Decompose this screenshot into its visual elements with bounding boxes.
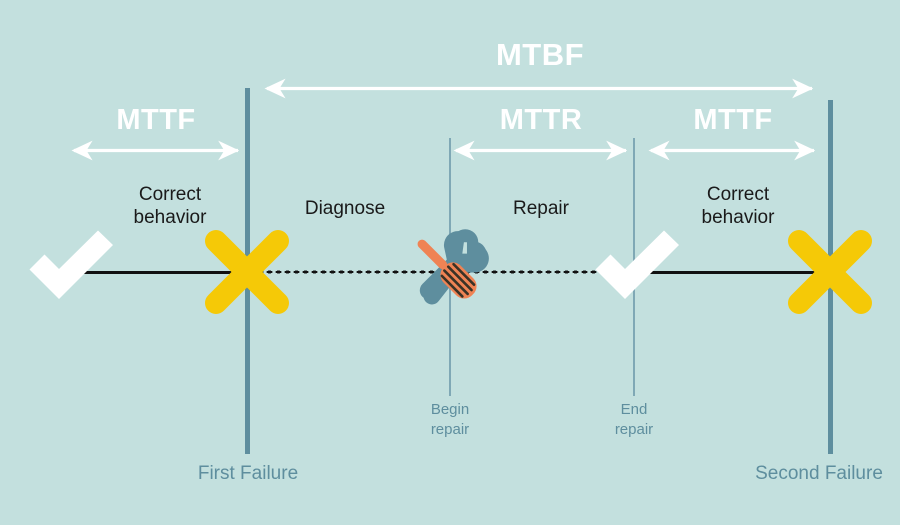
phase-line-1: Diagnose: [245, 197, 445, 220]
marker-line-1: End: [534, 400, 734, 420]
end-repair-line: [633, 138, 635, 396]
measure-label-mttr: MTTR: [441, 106, 641, 135]
mtbf-diagram: MTBF MTTF MTTR MTTF Co: [0, 0, 900, 525]
phase-line-1: Correct: [70, 183, 270, 206]
timeline-segment-failure-downtime: [247, 270, 619, 274]
check-icon: [30, 231, 114, 300]
failure-caption-second: Second Failure: [719, 463, 900, 485]
phase-line-1: Repair: [441, 197, 641, 220]
phase-line-2: behavior: [70, 206, 270, 229]
measure-label-mtbf: MTBF: [440, 39, 640, 70]
measure-label-mttf-right: MTTF: [633, 106, 833, 135]
marker-line-1: Begin: [350, 400, 550, 420]
phase-label-correct-behavior-2: Correct behavior: [638, 183, 838, 229]
measure-label-mttf-left: MTTF: [56, 106, 256, 135]
failure-caption-first: First Failure: [148, 463, 348, 485]
timeline-segment-correct-2: [636, 271, 836, 274]
marker-caption-begin-repair: Begin repair: [350, 400, 550, 441]
marker-caption-end-repair: End repair: [534, 400, 734, 441]
phase-line-1: Correct: [638, 183, 838, 206]
phase-line-2: behavior: [638, 206, 838, 229]
phase-label-diagnose: Diagnose: [245, 197, 445, 220]
begin-repair-line: [449, 138, 451, 396]
marker-line-2: repair: [534, 420, 734, 440]
timeline-segment-correct-1: [60, 271, 250, 274]
second-failure-line: [828, 100, 833, 454]
phase-label-correct-behavior-1: Correct behavior: [70, 183, 270, 229]
phase-label-repair: Repair: [441, 197, 641, 220]
check-icon: [596, 231, 680, 300]
marker-line-2: repair: [350, 420, 550, 440]
